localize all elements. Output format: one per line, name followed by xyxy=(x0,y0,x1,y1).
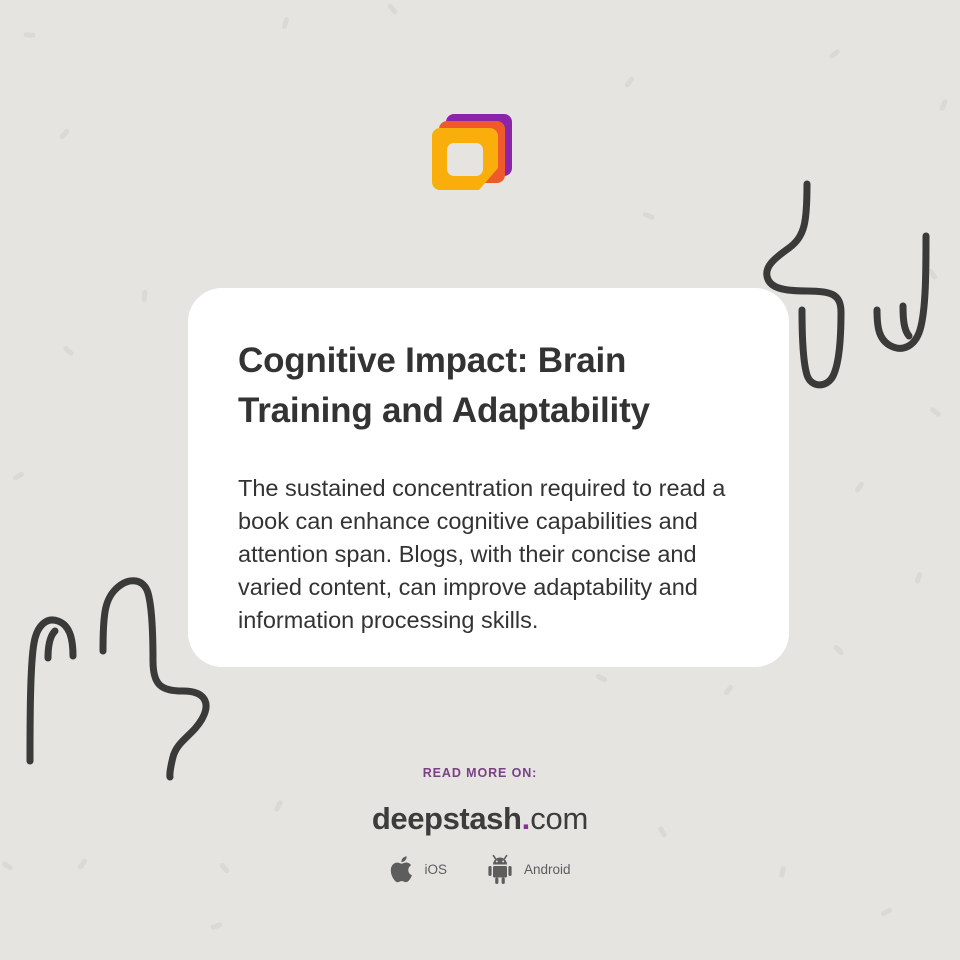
brand-name: deepstash xyxy=(372,801,522,836)
brand-dot: . xyxy=(522,801,531,836)
confetti-speck xyxy=(387,3,399,15)
confetti-speck xyxy=(854,481,865,494)
confetti-speck xyxy=(62,345,74,357)
confetti-speck xyxy=(12,471,25,482)
confetti-speck xyxy=(723,684,735,696)
confetti-speck xyxy=(939,99,948,112)
confetti-speck xyxy=(624,76,635,89)
confetti-speck xyxy=(141,290,148,303)
brand-tld: com xyxy=(530,801,588,836)
confetti-speck xyxy=(927,268,938,281)
deepstash-logo xyxy=(430,106,516,196)
confetti-speck xyxy=(281,17,289,30)
confetti-speck xyxy=(914,572,923,585)
share-card-canvas: Cognitive Impact: Brain Training and Ada… xyxy=(0,0,960,960)
footer: READ MORE ON: deepstash.com iOS xyxy=(0,766,960,885)
android-icon xyxy=(485,854,515,885)
confetti-speck xyxy=(833,644,845,656)
confetti-speck xyxy=(595,673,608,683)
store-label-android: Android xyxy=(524,862,571,877)
confetti-speck xyxy=(210,922,223,931)
play-store-badge-android[interactable]: Android xyxy=(485,854,571,885)
card-title: Cognitive Impact: Brain Training and Ada… xyxy=(238,336,739,436)
confetti-speck xyxy=(59,128,71,140)
confetti-speck xyxy=(828,48,841,59)
confetti-speck xyxy=(642,211,655,220)
app-store-badge-ios[interactable]: iOS xyxy=(389,854,447,885)
confetti-speck xyxy=(23,32,35,38)
read-more-label: READ MORE ON: xyxy=(0,766,960,780)
confetti-speck xyxy=(929,406,942,417)
brand-wordmark[interactable]: deepstash.com xyxy=(0,802,960,836)
store-label-ios: iOS xyxy=(424,862,447,877)
quote-card: Cognitive Impact: Brain Training and Ada… xyxy=(188,288,789,667)
apple-icon xyxy=(389,854,415,885)
store-badges: iOS xyxy=(0,854,960,885)
pointing-hand-doodle-left xyxy=(25,563,205,783)
confetti-speck xyxy=(880,907,893,917)
card-body-text: The sustained concentration required to … xyxy=(238,472,739,637)
